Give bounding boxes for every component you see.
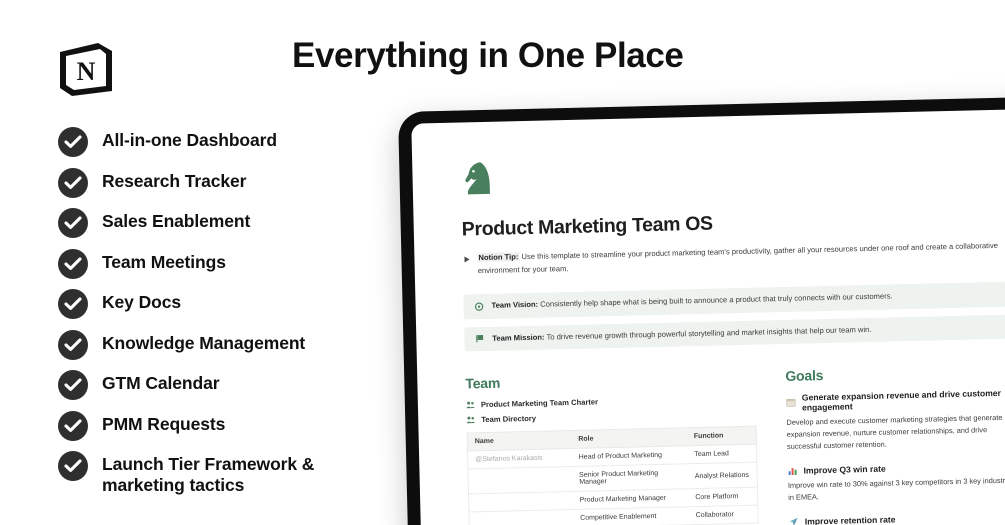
- feature-label: GTM Calendar: [102, 369, 219, 394]
- notion-page: Product Marketing Team OS Notion Tip: Us…: [411, 109, 1005, 525]
- goal-description: Develop and execute customer marketing s…: [786, 412, 1005, 453]
- feature-label: Research Tracker: [102, 167, 246, 192]
- goal-description: Improve win rate to 30% against 3 key co…: [788, 475, 1005, 504]
- goal-header: Generate expansion revenue and drive cus…: [786, 388, 1005, 414]
- list-item: Team Meetings: [58, 248, 388, 279]
- check-circle-icon: [58, 249, 88, 279]
- goal-header: Improve retention rate: [789, 512, 1005, 525]
- check-circle-icon: [58, 411, 88, 441]
- flag-icon: [475, 334, 484, 343]
- team-column: Team Product Marketing Team Charter Team…: [465, 369, 760, 525]
- device-screen: Product Marketing Team OS Notion Tip: Us…: [411, 109, 1005, 525]
- page-link-label: Team Directory: [481, 414, 536, 424]
- svg-text:N: N: [77, 57, 96, 86]
- tablet-device-mockup: Product Marketing Team OS Notion Tip: Us…: [398, 96, 1005, 525]
- goal-title: Generate expansion revenue and drive cus…: [802, 388, 1005, 413]
- check-circle-icon: [58, 289, 88, 319]
- goal-title: Improve retention rate: [805, 515, 896, 525]
- feature-label: Launch Tier Framework & marketing tactic…: [102, 450, 388, 497]
- goal-header: Improve Q3 win rate: [787, 461, 1005, 477]
- notion-tip-body: Use this template to streamline your pro…: [478, 241, 998, 275]
- goal-title: Improve Q3 win rate: [803, 464, 885, 476]
- cell-role: Senior Product Marketing Manager: [572, 464, 688, 492]
- goal-item: Improve retention rate Reduce churn rate…: [789, 512, 1005, 525]
- toggle-arrow-icon[interactable]: [464, 256, 469, 262]
- callout-team-vision: Team Vision: Consistently help shape wha…: [463, 281, 1005, 319]
- card-window-icon: [786, 398, 796, 408]
- notion-cube-logo: N: [52, 38, 118, 100]
- team-directory-table: Name Role Function @Stefanos Karakasis H…: [467, 426, 759, 525]
- column-header-function[interactable]: Function: [687, 426, 757, 446]
- feature-label: Key Docs: [102, 288, 181, 313]
- cell-name: [468, 467, 573, 494]
- list-item: GTM Calendar: [58, 369, 388, 400]
- check-circle-icon: [58, 370, 88, 400]
- callout-team-mission: Team Mission: To drive revenue growth th…: [464, 314, 1005, 352]
- feature-label: Team Meetings: [102, 248, 226, 273]
- goals-column: Goals Generate expansion revenue and dri…: [785, 363, 1005, 525]
- check-circle-icon: [58, 208, 88, 238]
- goal-item: Generate expansion revenue and drive cus…: [786, 388, 1005, 453]
- callout-label: Team Vision:: [491, 300, 538, 310]
- check-circle-icon: [58, 127, 88, 157]
- callout-text: Team Mission: To drive revenue growth th…: [492, 325, 871, 345]
- paper-plane-icon: [789, 517, 799, 525]
- cell-name: [469, 510, 573, 525]
- list-item: PMM Requests: [58, 410, 388, 441]
- bar-chart-icon: [787, 466, 797, 476]
- check-circle-icon: [58, 330, 88, 360]
- check-circle-icon: [58, 168, 88, 198]
- callout-body: Consistently help shape what is being bu…: [538, 291, 893, 308]
- feature-label: Knowledge Management: [102, 329, 305, 354]
- feature-checklist: All-in-one Dashboard Research Tracker Sa…: [58, 126, 388, 506]
- goals-section-title: Goals: [785, 363, 1005, 385]
- goal-item: Improve Q3 win rate Improve win rate to …: [787, 461, 1005, 504]
- page-title: Everything in One Place: [292, 36, 684, 76]
- callout-text: Team Vision: Consistently help shape wha…: [491, 291, 892, 311]
- callout-label: Team Mission:: [492, 332, 544, 342]
- cell-function: Collaborator: [689, 505, 759, 525]
- team-section-title: Team: [465, 369, 755, 392]
- cell-role: Competitive Enablement: [573, 507, 689, 525]
- list-item: Sales Enablement: [58, 207, 388, 238]
- notion-tip-label: Notion Tip:: [477, 252, 519, 262]
- list-item: All-in-one Dashboard: [58, 126, 388, 157]
- notion-tip-toggle[interactable]: Notion Tip: Use this template to streaml…: [462, 239, 1005, 277]
- people-group-icon: [466, 416, 475, 425]
- feature-label: All-in-one Dashboard: [102, 126, 277, 151]
- cell-function: Analyst Relations: [687, 462, 757, 489]
- chess-knight-icon: [460, 160, 495, 197]
- cell-function: Team Lead: [687, 444, 757, 464]
- cell-function: Core Platform: [688, 487, 758, 507]
- check-circle-icon: [58, 451, 88, 481]
- list-item: Key Docs: [58, 288, 388, 319]
- page-link-label: Product Marketing Team Charter: [481, 398, 598, 410]
- list-item: Launch Tier Framework & marketing tactic…: [58, 450, 388, 497]
- page-link-team-charter[interactable]: Product Marketing Team Charter: [466, 394, 756, 410]
- people-group-icon: [466, 401, 475, 410]
- page-columns: Team Product Marketing Team Charter Team…: [465, 363, 1005, 525]
- list-item: Research Tracker: [58, 167, 388, 198]
- list-item: Knowledge Management: [58, 329, 388, 360]
- document-title: Product Marketing Team OS: [462, 205, 1005, 241]
- target-circle-icon: [474, 302, 483, 311]
- page-link-team-directory[interactable]: Team Directory: [466, 409, 756, 425]
- notion-tip-text: Notion Tip: Use this template to streaml…: [477, 239, 1005, 277]
- feature-label: PMM Requests: [102, 410, 225, 435]
- callout-body: To drive revenue growth through powerful…: [544, 325, 871, 342]
- feature-label: Sales Enablement: [102, 207, 250, 232]
